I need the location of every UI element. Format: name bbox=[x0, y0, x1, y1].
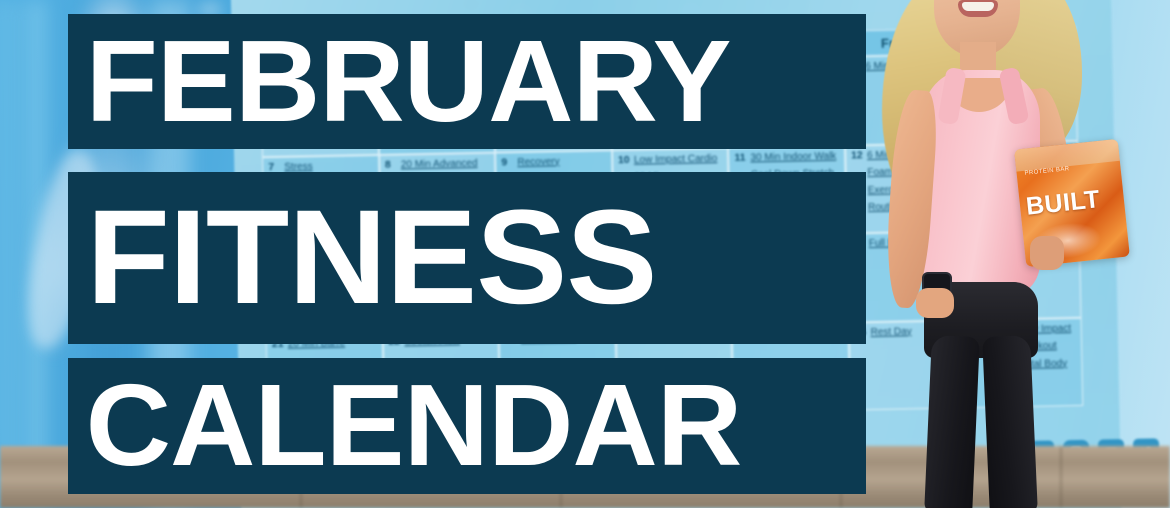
leg-right bbox=[982, 335, 1038, 508]
calendar-event-link[interactable]: Low Impact Cardio bbox=[634, 153, 723, 167]
headline-line-1: FEBRUARY bbox=[86, 33, 731, 130]
thumbnail-canvas: SundayMondayTuesdayWednesdayThursdayFrid… bbox=[0, 0, 1170, 508]
calendar-day-number: 10 bbox=[618, 153, 630, 165]
calendar-event-link[interactable]: Recovery bbox=[517, 155, 606, 169]
calendar-event-link[interactable]: 20 Min Advanced bbox=[401, 157, 490, 171]
calendar-day-number: 12 bbox=[851, 149, 863, 161]
headline-line-3: CALENDAR bbox=[86, 377, 742, 474]
headline-band-2: FITNESS bbox=[68, 172, 866, 344]
calendar-day-number: 7 bbox=[268, 161, 274, 173]
leg-left bbox=[924, 335, 980, 508]
teeth bbox=[962, 2, 994, 11]
presenter-figure: PROTEIN BAR BUILT bbox=[880, 0, 1100, 508]
calendar-day-number: 9 bbox=[501, 156, 507, 168]
calendar-day-number: 8 bbox=[385, 158, 391, 170]
hand-right bbox=[1030, 236, 1064, 270]
calendar-event-link[interactable]: 30 Min Indoor Walk bbox=[750, 150, 839, 164]
calendar-day-number: 11 bbox=[734, 151, 745, 163]
headline-band-3: CALENDAR bbox=[68, 358, 866, 494]
headline-line-2: FITNESS bbox=[86, 202, 656, 315]
hand-left bbox=[916, 288, 954, 318]
headline-band-1: FEBRUARY bbox=[68, 14, 866, 149]
